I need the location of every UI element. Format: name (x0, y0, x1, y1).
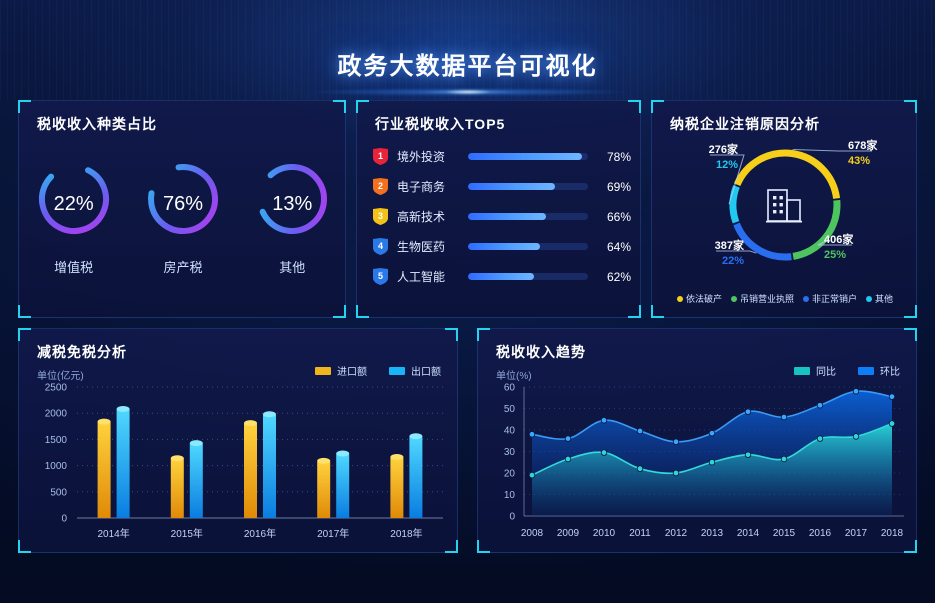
rank-number: 1 (373, 148, 388, 165)
line-legend-item[interactable]: 环比 (858, 363, 900, 378)
donut-segment-percent: 12% (716, 159, 738, 171)
donut-segment-percent: 22% (722, 255, 744, 267)
corner-bracket-icon (356, 100, 369, 113)
top5-percent: 66% (597, 210, 631, 224)
donut-legend-item[interactable]: 非正常销户 (803, 292, 857, 305)
rank-shield-icon: 1 (373, 148, 388, 165)
page-title: 政务大数据平台可视化 (0, 46, 935, 81)
legend-label: 进口额 (337, 363, 367, 378)
corner-bracket-icon (477, 328, 490, 341)
legend-label: 其他 (875, 292, 893, 305)
donut-legend-item[interactable]: 其他 (866, 292, 893, 305)
x-axis-tick: 2016 (809, 528, 832, 539)
donut-chart: 678家43%406家25%387家22%276家12% (652, 127, 918, 287)
donut-legend-item[interactable]: 吊销营业执照 (731, 292, 794, 305)
legend-dot-icon (731, 296, 737, 302)
top5-percent: 69% (597, 180, 631, 194)
donut-segment-count: 387家 (715, 238, 745, 252)
gauge-1: 22%增值税 (28, 153, 120, 276)
gauge-row: 22%增值税76%房产税13%其他 (19, 153, 347, 276)
x-axis-tick: 2010 (593, 528, 616, 539)
top5-percent: 78% (597, 150, 631, 164)
top5-progress-fill (468, 213, 546, 220)
panel-tax-revenue-trend: 税收收入趋势 单位(%) 同比环比 0102030405060200820092… (477, 328, 917, 553)
corner-bracket-icon (333, 100, 346, 113)
line-chart-legend: 同比环比 (794, 363, 900, 378)
corner-bracket-icon (18, 305, 31, 318)
y-axis-tick: 60 (504, 383, 516, 394)
legend-dot-icon (677, 296, 683, 302)
rank-shield-icon: 4 (373, 238, 388, 255)
gauge-2: 76%房产税 (137, 153, 229, 276)
top5-row[interactable]: 5人工智能62% (373, 265, 631, 288)
legend-label: 环比 (880, 363, 900, 378)
bar-chart-plot: 050010001500200025002014年2015年2016年2017年… (19, 381, 459, 546)
top5-row[interactable]: 2电子商务69% (373, 175, 631, 198)
top5-percent: 62% (597, 270, 631, 284)
corner-bracket-icon (904, 328, 917, 341)
legend-swatch-icon (389, 367, 405, 375)
x-axis-tick: 2018 (881, 528, 904, 539)
panel-title: 税收收入种类占比 (37, 114, 157, 134)
legend-dot-icon (866, 296, 872, 302)
top5-progress-fill (468, 243, 540, 250)
x-axis-tick: 2011 (629, 528, 651, 539)
corner-bracket-icon (628, 100, 641, 113)
donut-legend: 依法破产吊销营业执照非正常销户其他 (652, 292, 918, 305)
top5-industry-name: 电子商务 (397, 178, 459, 195)
donut-segment-percent: 43% (848, 155, 870, 167)
y-axis-tick: 2500 (45, 383, 68, 394)
legend-dot-icon (803, 296, 809, 302)
rank-number: 3 (373, 208, 388, 225)
top5-row[interactable]: 4生物医药64% (373, 235, 631, 258)
legend-swatch-icon (858, 367, 874, 375)
line-legend-item[interactable]: 同比 (794, 363, 836, 378)
legend-label: 非正常销户 (812, 292, 857, 305)
page-header: 政务大数据平台可视化 (0, 0, 935, 98)
corner-bracket-icon (651, 305, 664, 318)
x-axis-tick: 2014年 (97, 527, 129, 540)
panel-title: 税收收入趋势 (496, 342, 586, 362)
donut-segment-percent: 25% (824, 249, 846, 261)
y-axis-tick: 1000 (45, 461, 68, 472)
gauge-3: 13%其他 (246, 153, 338, 276)
rank-shield-icon: 5 (373, 268, 388, 285)
gauge-label: 增值税 (28, 257, 120, 276)
panel-tax-type-share: 税收收入种类占比 22%增值税76%房产税13%其他 (18, 100, 346, 318)
y-axis-tick: 40 (504, 426, 516, 437)
panel-cancellation-reason: 纳税企业注销原因分析 678家43%406家25%387家22%276家12% … (651, 100, 917, 318)
top5-progress-track (468, 153, 588, 160)
rank-shield-icon: 2 (373, 178, 388, 195)
corner-bracket-icon (904, 100, 917, 113)
top5-progress-track (468, 273, 588, 280)
y-axis-tick: 500 (50, 487, 67, 498)
top5-row[interactable]: 3高新技术66% (373, 205, 631, 228)
gauge-value: 76% (137, 189, 229, 219)
x-axis-tick: 2018年 (390, 527, 422, 540)
panel-title: 行业税收收入TOP5 (375, 114, 505, 134)
y-axis-tick: 0 (509, 512, 515, 523)
top5-progress-fill (468, 183, 555, 190)
gauge-value: 22% (28, 189, 120, 219)
donut-segment-count: 276家 (709, 142, 739, 156)
top5-progress-track (468, 183, 588, 190)
legend-swatch-icon (794, 367, 810, 375)
legend-label: 出口额 (411, 363, 441, 378)
corner-bracket-icon (333, 305, 346, 318)
top5-progress-fill (468, 273, 534, 280)
y-axis-tick: 30 (504, 447, 516, 458)
y-axis-tick: 1500 (45, 435, 68, 446)
top5-progress-track (468, 213, 588, 220)
y-axis-tick: 10 (504, 490, 516, 501)
corner-bracket-icon (445, 328, 458, 341)
axis-unit-label: 单位(%) (496, 367, 532, 382)
legend-label: 依法破产 (686, 292, 722, 305)
legend-label: 同比 (816, 363, 836, 378)
top5-progress-track (468, 243, 588, 250)
panel-tax-reduction-analysis: 减税免税分析 单位(亿元) 进口额出口额 0500100015002000250… (18, 328, 458, 553)
line-chart-plot: 0102030405060200820092010201120122013201… (478, 381, 918, 546)
bar-legend-item[interactable]: 出口额 (389, 363, 441, 378)
rank-number: 5 (373, 268, 388, 285)
x-axis-tick: 2012 (665, 528, 688, 539)
x-axis-tick: 2008 (521, 528, 544, 539)
x-axis-tick: 2017年 (317, 527, 349, 540)
rank-number: 4 (373, 238, 388, 255)
x-axis-tick: 2014 (737, 528, 760, 539)
corner-bracket-icon (18, 100, 31, 113)
corner-bracket-icon (904, 305, 917, 318)
rank-number: 2 (373, 178, 388, 195)
top5-list: 1境外投资78%2电子商务69%3高新技术66%4生物医药64%5人工智能62% (373, 145, 631, 295)
gauge-label: 其他 (246, 257, 338, 276)
donut-segment-count: 406家 (824, 232, 854, 246)
top5-industry-name: 生物医药 (397, 238, 459, 255)
legend-label: 吊销营业执照 (740, 292, 794, 305)
bar-chart-legend: 进口额出口额 (315, 363, 441, 378)
legend-swatch-icon (315, 367, 331, 375)
corner-bracket-icon (651, 100, 664, 113)
top5-percent: 64% (597, 240, 631, 254)
y-axis-tick: 20 (504, 469, 516, 480)
donut-segment-count: 678家 (848, 138, 878, 152)
top5-industry-name: 人工智能 (397, 268, 459, 285)
panel-industry-tax-top5: 行业税收收入TOP5 1境外投资78%2电子商务69%3高新技术66%4生物医药… (356, 100, 641, 318)
bar-legend-item[interactable]: 进口额 (315, 363, 367, 378)
x-axis-tick: 2015年 (171, 527, 203, 540)
corner-bracket-icon (18, 328, 31, 341)
x-axis-tick: 2017 (845, 528, 868, 539)
rank-shield-icon: 3 (373, 208, 388, 225)
gauge-label: 房产税 (137, 257, 229, 276)
corner-bracket-icon (356, 305, 369, 318)
corner-bracket-icon (628, 305, 641, 318)
donut-legend-item[interactable]: 依法破产 (677, 292, 722, 305)
x-axis-tick: 2016年 (244, 527, 276, 540)
y-axis-tick: 50 (504, 404, 516, 415)
axis-unit-label: 单位(亿元) (37, 367, 84, 382)
building-icon (766, 190, 802, 222)
y-axis-tick: 0 (61, 514, 67, 525)
top5-industry-name: 境外投资 (397, 148, 459, 165)
top5-industry-name: 高新技术 (397, 208, 459, 225)
x-axis-tick: 2009 (557, 528, 580, 539)
title-glow-decoration (303, 88, 633, 96)
top5-progress-fill (468, 153, 582, 160)
panel-title: 减税免税分析 (37, 342, 127, 362)
y-axis-tick: 2000 (45, 409, 68, 420)
x-axis-tick: 2013 (701, 528, 724, 539)
x-axis-tick: 2015 (773, 528, 796, 539)
gauge-value: 13% (246, 189, 338, 219)
top5-row[interactable]: 1境外投资78% (373, 145, 631, 168)
